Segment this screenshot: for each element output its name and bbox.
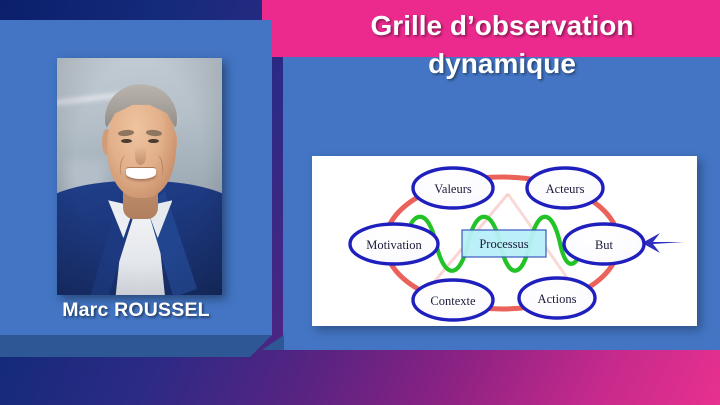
dynamic-observation-diagram: Processus Valeurs Acteurs Motivation But… <box>312 156 697 326</box>
presenter-name: Marc ROUSSEL <box>0 299 272 322</box>
node-motivation-label: Motivation <box>366 238 422 252</box>
page-title-line-1: Grille d’observation <box>290 7 714 45</box>
portrait-panel-shadow <box>0 335 272 357</box>
process-box-label: Processus <box>479 237 528 251</box>
page-title: Grille d’observation dynamique <box>290 7 714 83</box>
page-title-line-2: dynamique <box>290 45 714 83</box>
node-contexte-label: Contexte <box>430 294 476 308</box>
photo-vignette <box>57 58 222 295</box>
node-valeurs-label: Valeurs <box>434 182 472 196</box>
node-but-label: But <box>595 238 614 252</box>
presentation-slide: Marc ROUSSEL Grille d’observation dynami… <box>0 0 720 405</box>
node-acteurs-label: Acteurs <box>546 182 585 196</box>
presenter-photo <box>57 58 222 295</box>
axis-arrow-icon <box>642 233 684 253</box>
node-actions-label: Actions <box>538 292 577 306</box>
diagram-panel: Processus Valeurs Acteurs Motivation But… <box>312 156 697 326</box>
